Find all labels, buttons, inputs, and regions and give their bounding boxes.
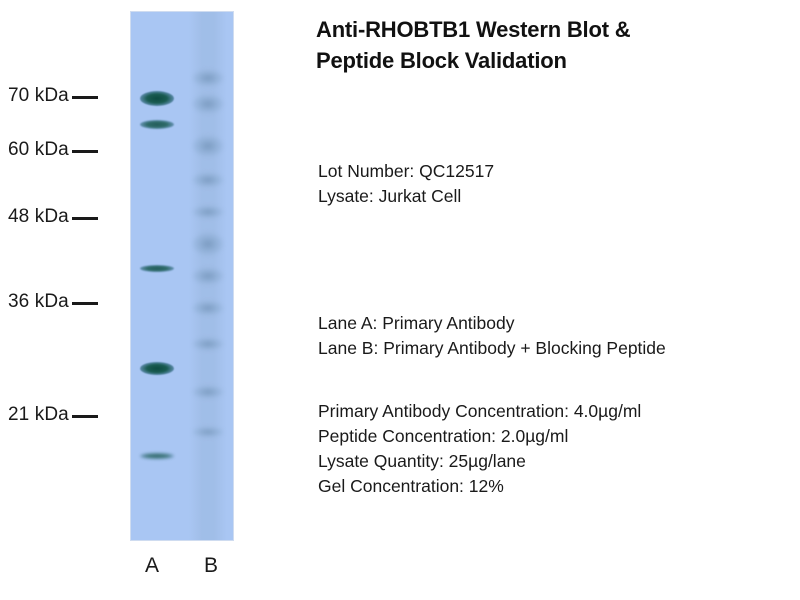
blot-band [193, 206, 223, 218]
blot-band [140, 91, 174, 106]
blot-band [193, 386, 223, 398]
mw-tick-mark-icon [72, 96, 98, 99]
figure-title-line-1: Anti-RHOBTB1 Western Blot & [316, 17, 630, 42]
blot-band [193, 173, 223, 187]
lot-number: Lot Number: QC12517 [318, 159, 494, 184]
peptide-concentration: Peptide Concentration: 2.0µg/ml [318, 424, 641, 449]
blot-lane-b [183, 12, 233, 540]
mw-marker-36: 36 kDa [8, 291, 98, 313]
blot-band [193, 233, 223, 255]
mw-marker-label: 60 kDa [8, 139, 69, 160]
mw-marker-60: 60 kDa [8, 139, 98, 161]
blot-band [193, 268, 223, 284]
primary-antibody-concentration: Primary Antibody Concentration: 4.0µg/ml [318, 399, 641, 424]
lysate-type: Lysate: Jurkat Cell [318, 184, 494, 209]
assay-conditions: Primary Antibody Concentration: 4.0µg/ml… [318, 399, 641, 499]
western-blot-figure: 70 kDa60 kDa48 kDa36 kDa21 kDa AB Anti-R… [0, 0, 800, 600]
mw-marker-label: 36 kDa [8, 291, 69, 312]
lysate-quantity: Lysate Quantity: 25µg/lane [318, 449, 641, 474]
blot-band [193, 136, 223, 156]
mw-marker-21: 21 kDa [8, 404, 98, 426]
lane-legend: Lane A: Primary Antibody Lane B: Primary… [318, 311, 666, 361]
blot-band [193, 301, 223, 315]
mw-marker-label: 70 kDa [8, 85, 69, 106]
blot-panel [131, 12, 233, 540]
lane-letter-a: A [137, 554, 167, 578]
mw-marker-label: 48 kDa [8, 206, 69, 227]
blot-band [140, 453, 174, 459]
lane-b-legend: Lane B: Primary Antibody + Blocking Pept… [318, 336, 666, 361]
gel-concentration: Gel Concentration: 12% [318, 474, 641, 499]
blot-band [140, 362, 174, 375]
blot-band [193, 70, 223, 86]
lane-a-legend: Lane A: Primary Antibody [318, 311, 666, 336]
mw-marker-70: 70 kDa [8, 85, 98, 107]
mw-tick-mark-icon [72, 150, 98, 153]
blot-band [193, 95, 223, 113]
mw-marker-label: 21 kDa [8, 404, 69, 425]
figure-title-line-2: Peptide Block Validation [316, 48, 567, 73]
sample-metadata: Lot Number: QC12517 Lysate: Jurkat Cell [318, 159, 494, 209]
blot-band [140, 265, 174, 272]
blot-band [193, 427, 223, 437]
mw-tick-mark-icon [72, 302, 98, 305]
mw-tick-mark-icon [72, 217, 98, 220]
blot-lane-a [131, 12, 183, 540]
blot-band [140, 120, 174, 129]
lane-letter-b: B [196, 554, 226, 578]
figure-title: Anti-RHOBTB1 Western Blot & Peptide Bloc… [316, 14, 794, 76]
mw-marker-48: 48 kDa [8, 206, 98, 228]
mw-tick-mark-icon [72, 415, 98, 418]
blot-band [193, 338, 223, 350]
